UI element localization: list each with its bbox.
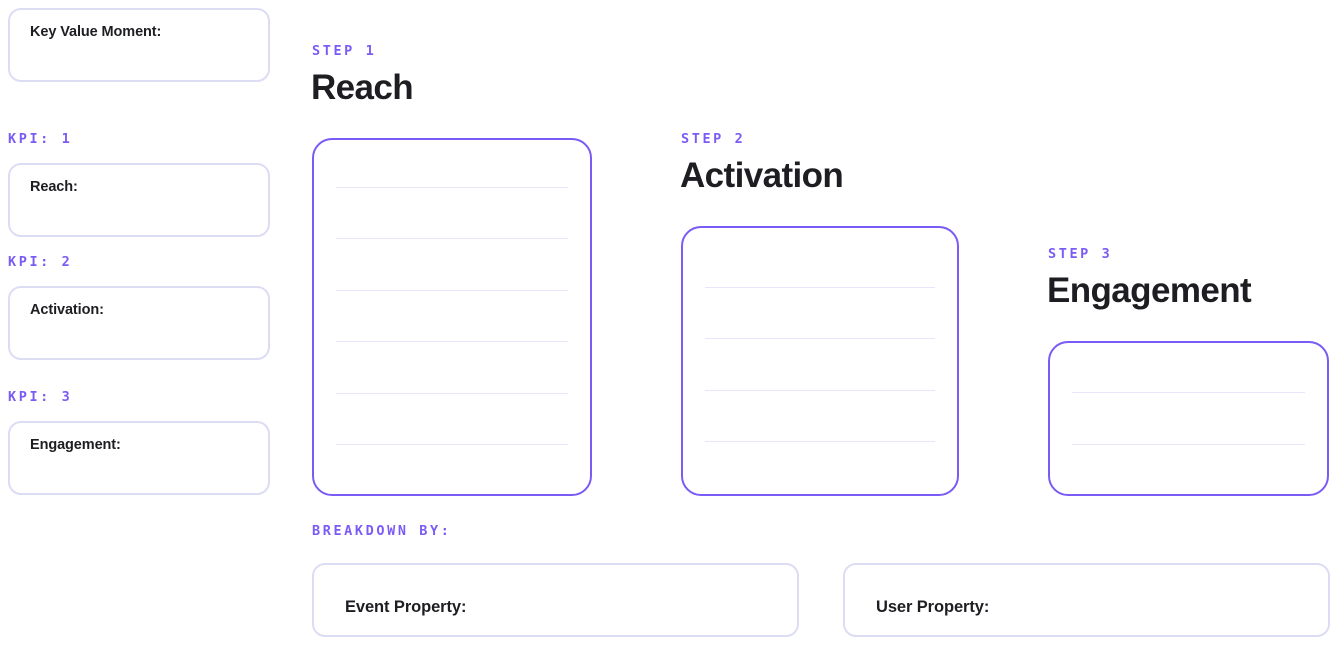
key-value-moment-card[interactable]: Key Value Moment: [8,8,270,82]
step-2-notes-card[interactable] [681,226,959,496]
step-2-kicker: STEP 2 [681,131,745,147]
kpi-1-label: Reach: [30,179,78,195]
worksheet-canvas: Key Value Moment: KPI: 1 Reach: KPI: 2 A… [0,0,1337,646]
note-rule [336,444,568,445]
user-property-label: User Property: [876,598,989,617]
kpi-1-kicker: KPI: 1 [8,131,72,147]
note-rule [1072,444,1305,445]
note-rule [336,290,568,291]
step-1-kicker: STEP 1 [312,43,376,59]
step-3-notes-card[interactable] [1048,341,1329,496]
note-rule [336,187,568,188]
event-property-card[interactable]: Event Property: [312,563,799,637]
step-1-title: Reach [311,68,413,108]
kpi-2-kicker: KPI: 2 [8,254,72,270]
step-2-title: Activation [680,156,843,196]
note-rule [705,287,935,288]
user-property-card[interactable]: User Property: [843,563,1330,637]
note-rule [336,393,568,394]
note-rule [705,390,935,391]
kpi-2-label: Activation: [30,302,104,318]
note-rule [1072,392,1305,393]
note-rule [336,341,568,342]
step-3-title: Engagement [1047,271,1251,311]
kpi-2-card[interactable]: Activation: [8,286,270,360]
step-3-kicker: STEP 3 [1048,246,1112,262]
kpi-3-card[interactable]: Engagement: [8,421,270,495]
kpi-3-kicker: KPI: 3 [8,389,72,405]
event-property-label: Event Property: [345,598,466,617]
note-rule [336,238,568,239]
step-1-notes-card[interactable] [312,138,592,496]
kpi-1-card[interactable]: Reach: [8,163,270,237]
breakdown-kicker: BREAKDOWN BY: [312,523,451,539]
note-rule [705,338,935,339]
kpi-3-label: Engagement: [30,437,121,453]
key-value-moment-label: Key Value Moment: [30,24,161,40]
note-rule [705,441,935,442]
